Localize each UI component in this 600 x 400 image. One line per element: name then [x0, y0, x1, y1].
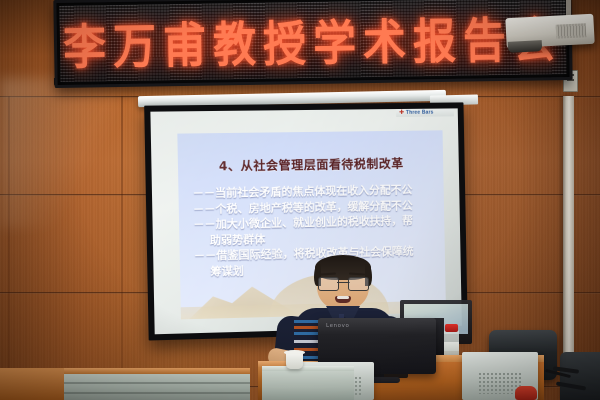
- lecture-hall-photo: 李万甫教授学术报告会 ✚ Three Bars 4、从社会管理层面看待税制改革 …: [0, 0, 600, 400]
- screen-brand-logo: ✚ Three Bars: [396, 108, 454, 117]
- glasses-lens: [348, 277, 369, 291]
- paper-cup-rim: [284, 350, 305, 355]
- led-banner-face: 李万甫教授学术报告会: [59, 0, 566, 82]
- led-banner-text: 李万甫教授学术报告会: [62, 1, 563, 78]
- desk-front-panel: [64, 372, 250, 400]
- podium-edge: [262, 366, 354, 371]
- brand-mark-icon: ✚: [399, 109, 404, 115]
- desk-panel-line: [64, 382, 250, 384]
- desk-left-wood: [0, 368, 70, 400]
- slide-title: 4、从社会管理层面看待税制改革: [178, 154, 443, 175]
- water-bottle-label: [444, 342, 459, 351]
- wall-panel-joint: [8, 96, 10, 400]
- projector-lens: [508, 40, 543, 53]
- red-object: [515, 386, 537, 400]
- glasses-lens: [318, 277, 339, 291]
- presenter-mouth: [335, 296, 351, 303]
- podium-front: [262, 368, 354, 400]
- brand-name-label: Three Bars: [406, 109, 434, 115]
- water-bottle-cap: [445, 324, 458, 332]
- projector-vent: [556, 23, 587, 39]
- wall-panel-joint: [121, 96, 123, 400]
- glasses-icon: [318, 277, 369, 289]
- lenovo-logo: Lenovo: [326, 323, 349, 329]
- led-banner: 李万甫教授学术报告会: [53, 0, 572, 88]
- desk-panel-line: [64, 392, 250, 394]
- desk-trim: [64, 368, 250, 374]
